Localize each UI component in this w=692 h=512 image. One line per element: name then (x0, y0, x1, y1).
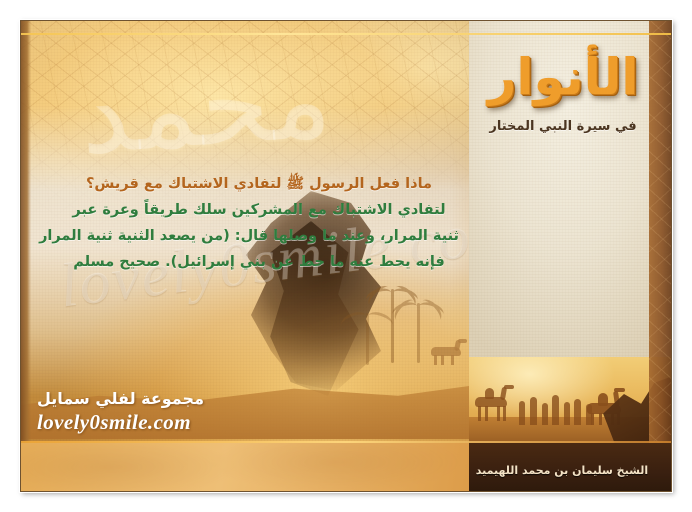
left-edge-strip (21, 21, 31, 491)
answer-line: فإنه يحط عنه ما حط عن بني إسرائيل). صحيح… (59, 249, 459, 275)
right-strip-veining (649, 21, 671, 491)
page-subtitle: في سيرة النبي المختار (479, 119, 647, 134)
hadith-text-block: ماذا فعل الرسول ﷺ لتفادي الاشتباك مع قري… (59, 171, 459, 275)
camel-rider-silhouette (471, 383, 517, 423)
card-root: محمد lovely0smile.com (0, 0, 692, 512)
author-attribution: الشيخ سليمان بن محمد اللهيميد (467, 464, 657, 477)
artwork-frame: محمد lovely0smile.com (20, 20, 672, 492)
title-block: الأنوار في سيرة النبي المختار (479, 49, 647, 134)
answer-line: لتفادي الاشتباك مع المشركين سلك طريقاً و… (59, 197, 459, 223)
top-gold-rule (21, 33, 671, 35)
right-edge-strip (649, 21, 671, 491)
branding-block: مجموعة لفلي سمايل lovely0smile.com (37, 389, 204, 435)
brand-url[interactable]: lovely0smile.com (37, 410, 204, 435)
footer-left-band (21, 443, 471, 491)
answer-line: ثنية المرار، وعند ما وصلها قال: (من يصعد… (59, 223, 459, 249)
page-title: الأنوار (479, 49, 647, 107)
brand-name-arabic: مجموعة لفلي سمايل (37, 389, 204, 408)
question-line: ماذا فعل الرسول ﷺ لتفادي الاشتباك مع قري… (59, 171, 459, 197)
title-panel: الأنوار في سيرة النبي المختار (469, 21, 671, 491)
footer-left-texture (21, 443, 471, 491)
caravan-scene (469, 357, 671, 443)
